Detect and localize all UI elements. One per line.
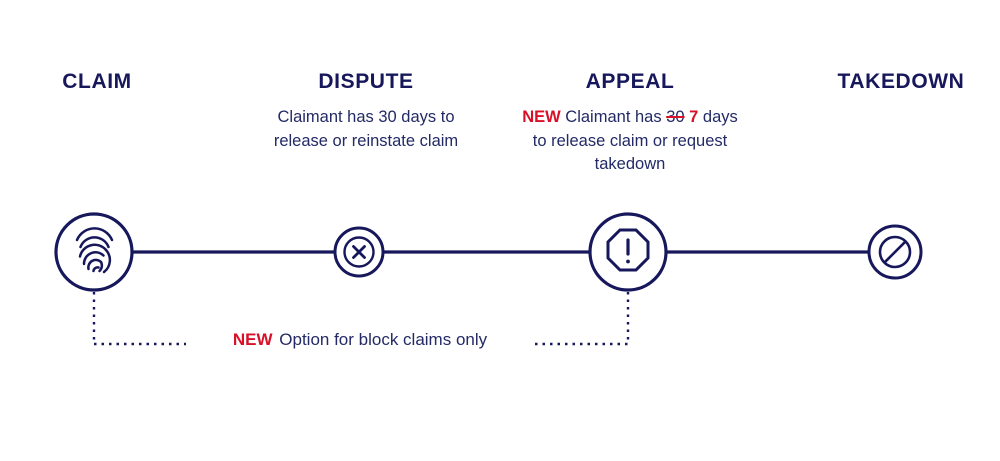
stage-column-dispute: DISPUTE Claimant has 30 days to release … [271,70,461,153]
stage-body-dispute: Claimant has 30 days to release or reins… [271,106,461,153]
stage-body-appeal: NEW Claimant has 30 7 days to release cl… [519,106,741,176]
stage-heading-appeal: APPEAL [519,70,741,93]
stage-heading-takedown: TAKEDOWN [812,70,990,93]
stage-heading-dispute: DISPUTE [271,70,461,93]
appeal-new-value: 7 [689,108,698,126]
appeal-old-value: 30 [666,108,684,126]
stage-node-dispute[interactable] [335,228,383,276]
stage-heading-claim: CLAIM [8,70,186,93]
claim-lifecycle-diagram: CLAIM DISPUTE Claimant has 30 days to re… [0,0,1000,461]
stage-node-takedown[interactable] [869,226,921,278]
stage-column-appeal: APPEAL NEW Claimant has 30 7 days to rel… [519,70,741,176]
bracket-annotation-text: Option for block claims only [279,330,487,349]
stage-column-takedown: TAKEDOWN [812,70,990,93]
stage-node-appeal[interactable] [590,214,666,290]
stage-column-claim: CLAIM [8,70,186,93]
new-badge-appeal: NEW [522,108,561,126]
appeal-body-before: Claimant has [565,108,661,126]
new-badge-bracket: NEW [233,330,273,349]
stage-node-claim[interactable] [56,214,132,290]
bracket-annotation-label: NEW Option for block claims only [180,330,540,350]
